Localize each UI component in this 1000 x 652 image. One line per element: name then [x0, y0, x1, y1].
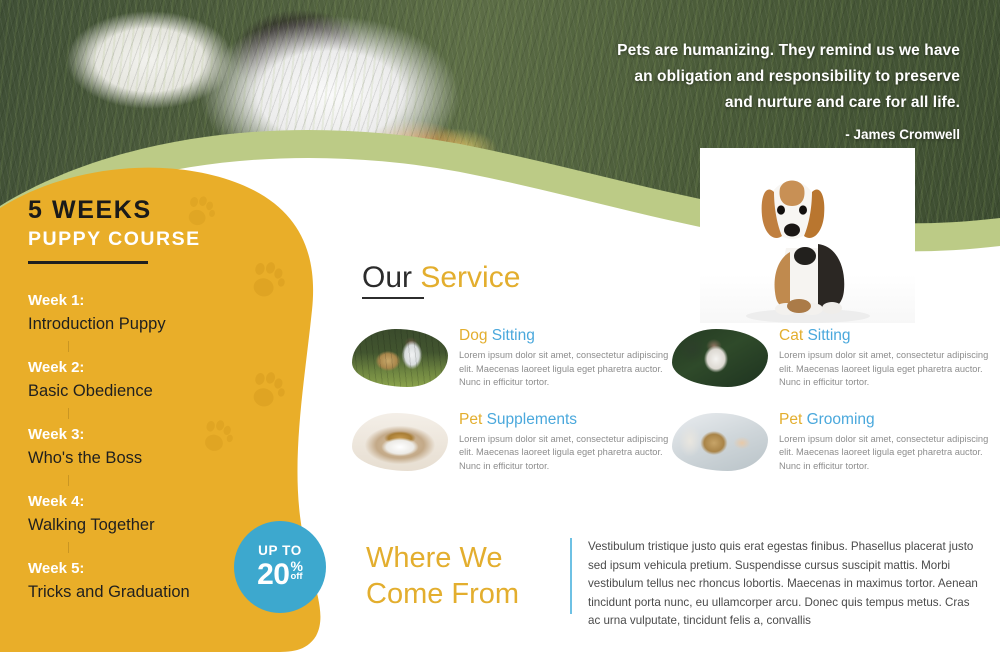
quote-line-3: and nurture and care for all life.: [540, 90, 960, 116]
week-item: Week 3: Who's the Boss: [28, 424, 282, 471]
services-row-2: Pet Supplements Lorem ipsum dolor sit am…: [352, 410, 992, 474]
badge-value-row: 20 % off: [257, 560, 303, 590]
sidebar-title: 5 WEEKS: [28, 198, 282, 223]
service-thumbnail: [352, 413, 448, 471]
week-label: Week 3:: [28, 424, 282, 446]
week-divider-tick: [68, 341, 69, 352]
services-heading: Our Service: [362, 262, 520, 299]
week-divider-tick: [68, 475, 69, 486]
service-card-text: Lorem ipsum dolor sit amet, consectetur …: [779, 349, 992, 390]
service-card-body: Pet Supplements Lorem ipsum dolor sit am…: [459, 410, 672, 474]
service-card-pet-grooming[interactable]: Pet Grooming Lorem ipsum dolor sit amet,…: [672, 410, 992, 474]
week-item: Week 4: Walking Together: [28, 491, 282, 538]
service-card-body: Pet Grooming Lorem ipsum dolor sit amet,…: [779, 410, 992, 474]
wwcf-paragraph: Vestibulum tristique justo quis erat ege…: [588, 538, 980, 631]
services-heading-part2: Service: [420, 261, 520, 294]
week-label: Week 1:: [28, 290, 282, 312]
quote-line-1: Pets are humanizing. They remind us we h…: [540, 38, 960, 64]
week-item: Week 1: Introduction Puppy: [28, 290, 282, 337]
service-card-text: Lorem ipsum dolor sit amet, consectetur …: [459, 349, 672, 390]
wwcf-vertical-divider: [570, 538, 572, 614]
service-card-text: Lorem ipsum dolor sit amet, consectetur …: [459, 433, 672, 474]
services-heading-part1: Our: [362, 261, 412, 294]
badge-percent-symbol: %: [290, 560, 302, 572]
service-title-part1: Dog: [459, 327, 487, 344]
service-card-title: Pet Grooming: [779, 410, 992, 429]
service-title-part2: Grooming: [807, 411, 875, 428]
week-text: Introduction Puppy: [28, 312, 282, 337]
service-card-title: Pet Supplements: [459, 410, 672, 429]
service-title-part2: Sitting: [492, 327, 535, 344]
service-card-title: Dog Sitting: [459, 326, 672, 345]
week-item: Week 2: Basic Obedience: [28, 357, 282, 404]
service-title-part1: Pet: [779, 411, 802, 428]
service-card-text: Lorem ipsum dolor sit amet, consectetur …: [779, 433, 992, 474]
badge-percent-group: % off: [290, 560, 302, 582]
where-we-come-from-heading: Where We Come From: [366, 540, 566, 612]
badge-up-to-label: UP TO: [258, 544, 302, 558]
service-card-dog-sitting[interactable]: Dog Sitting Lorem ipsum dolor sit amet, …: [352, 326, 672, 390]
week-text: Who's the Boss: [28, 446, 282, 471]
services-heading-text: Our Service: [362, 262, 520, 294]
week-divider-tick: [68, 408, 69, 419]
service-title-part2: Sitting: [807, 327, 850, 344]
service-card-title: Cat Sitting: [779, 326, 992, 345]
sidebar-rule: [28, 261, 148, 264]
service-title-part2: Supplements: [487, 411, 577, 428]
services-grid: Dog Sitting Lorem ipsum dolor sit amet, …: [352, 326, 992, 473]
brochure-page: Pets are humanizing. They remind us we h…: [0, 0, 1000, 652]
service-card-body: Cat Sitting Lorem ipsum dolor sit amet, …: [779, 326, 992, 390]
service-card-cat-sitting[interactable]: Cat Sitting Lorem ipsum dolor sit amet, …: [672, 326, 992, 390]
badge-number: 20: [257, 560, 289, 590]
sidebar-subtitle: PUPPY COURSE: [28, 230, 282, 250]
service-thumbnail: [672, 329, 768, 387]
beagle-illustration: [700, 148, 915, 323]
services-row-1: Dog Sitting Lorem ipsum dolor sit amet, …: [352, 326, 992, 390]
week-text: Walking Together: [28, 513, 282, 538]
badge-off-label: off: [290, 572, 302, 582]
service-title-part1: Pet: [459, 411, 482, 428]
service-thumbnail: [672, 413, 768, 471]
service-card-pet-supplements[interactable]: Pet Supplements Lorem ipsum dolor sit am…: [352, 410, 672, 474]
discount-badge[interactable]: UP TO 20 % off: [234, 521, 326, 613]
beagle-photo: [700, 148, 915, 323]
services-heading-underline: [362, 297, 424, 299]
service-card-body: Dog Sitting Lorem ipsum dolor sit amet, …: [459, 326, 672, 390]
week-label: Week 2:: [28, 357, 282, 379]
week-text: Basic Obedience: [28, 379, 282, 404]
quote-block: Pets are humanizing. They remind us we h…: [540, 38, 960, 142]
service-thumbnail: [352, 329, 448, 387]
quote-author: - James Cromwell: [540, 127, 960, 142]
quote-line-2: an obligation and responsibility to pres…: [540, 64, 960, 90]
week-divider-tick: [68, 542, 69, 553]
wwcf-line-1: Where We: [366, 540, 566, 576]
week-label: Week 4:: [28, 491, 282, 513]
wwcf-line-2: Come From: [366, 576, 566, 612]
service-title-part1: Cat: [779, 327, 803, 344]
